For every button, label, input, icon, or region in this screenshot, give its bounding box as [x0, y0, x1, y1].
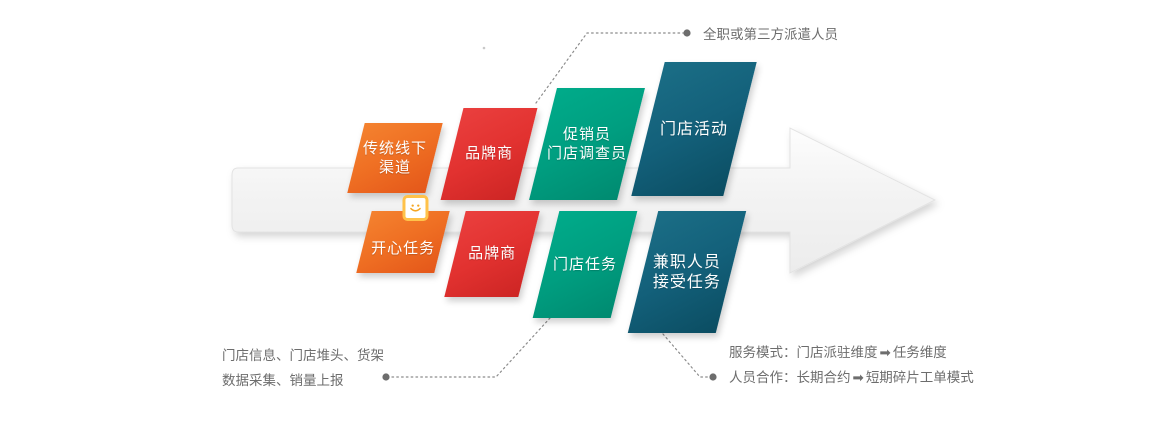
right-arrow-icon: ➡	[878, 345, 893, 361]
leader-dot-bottom-right	[709, 373, 716, 380]
right-arrow-icon: ➡	[851, 370, 866, 386]
block-label-line: 门店调查员	[547, 144, 627, 163]
annotation-row: 人员合作：长期合约➡短期碎片工单模式	[729, 366, 974, 391]
annotation-from: 门店派驻维度	[797, 345, 878, 361]
annotation-to: 短期碎片工单模式	[866, 370, 974, 386]
annotation-data-collection: 门店信息、门店堆头、货架 数据采集、销量上报	[222, 344, 384, 394]
block-label-line: 传统线下	[363, 139, 427, 158]
block-label-line: 门店任务	[553, 255, 617, 274]
annotation-row: 服务模式：门店派驻维度➡任务维度	[729, 341, 974, 366]
speck-dot	[483, 47, 486, 50]
block-label-line: 促销员	[547, 125, 627, 144]
smiley-face-icon	[402, 195, 428, 221]
block-label-line: 兼职人员	[653, 252, 721, 272]
block-label-line: 品牌商	[465, 144, 513, 163]
diagram-canvas: 传统线下 渠道 品牌商 促销员 门店调查员 门店活动 开心任务	[0, 0, 1150, 430]
annotation-line: 数据采集、销量上报	[222, 369, 384, 394]
block-label-line: 门店活动	[660, 119, 728, 139]
annotation-service-model: 服务模式：门店派驻维度➡任务维度 人员合作：长期合约➡短期碎片工单模式	[729, 341, 974, 391]
annotation-label: 人员合作：	[729, 370, 797, 386]
annotation-to: 任务维度	[893, 345, 947, 361]
annotation-label: 服务模式：	[729, 345, 797, 361]
block-label-line: 接受任务	[653, 272, 721, 292]
leader-dot-top	[683, 29, 690, 36]
annotation-line: 门店信息、门店堆头、货架	[222, 344, 384, 369]
annotation-from: 长期合约	[797, 370, 851, 386]
block-label-line: 开心任务	[371, 239, 435, 258]
annotation-line: 全职或第三方派遣人员	[703, 23, 838, 48]
annotation-staffing: 全职或第三方派遣人员	[703, 23, 838, 48]
block-label-line: 品牌商	[468, 244, 516, 263]
block-happy-task[interactable]: 开心任务	[356, 211, 449, 273]
block-label-line: 渠道	[363, 158, 427, 177]
